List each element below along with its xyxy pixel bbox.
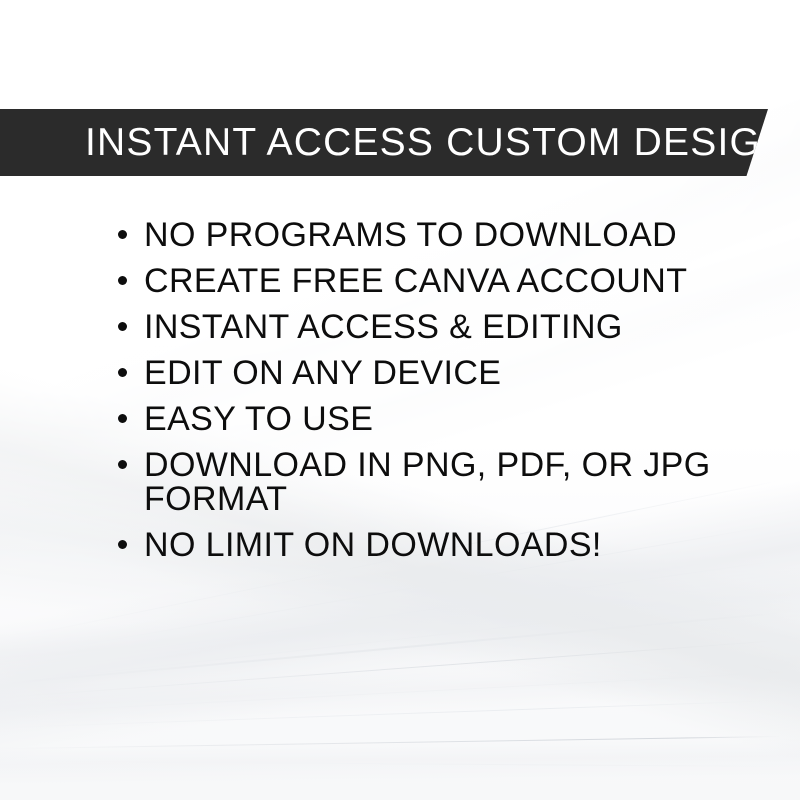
list-item: INSTANT ACCESS & EDITING — [118, 310, 738, 344]
list-item: EASY TO USE — [118, 402, 738, 436]
list-item-label: EASY TO USE — [144, 402, 738, 436]
list-item: DOWNLOAD IN PNG, PDF, OR JPG FORMAT — [118, 448, 738, 516]
page-title: INSTANT ACCESS CUSTOM DESIGNS — [85, 123, 800, 162]
list-item-label: NO LIMIT ON DOWNLOADS! — [144, 528, 738, 562]
list-item: NO PROGRAMS TO DOWNLOAD — [118, 218, 738, 252]
list-item: EDIT ON ANY DEVICE — [118, 356, 738, 390]
header-banner: INSTANT ACCESS CUSTOM DESIGNS — [0, 109, 768, 176]
list-item-label: INSTANT ACCESS & EDITING — [144, 310, 738, 344]
poster-canvas: INSTANT ACCESS CUSTOM DESIGNS NO PROGRAM… — [0, 0, 800, 800]
list-item: CREATE FREE CANVA ACCOUNT — [118, 264, 738, 298]
list-item-label: EDIT ON ANY DEVICE — [144, 356, 738, 390]
list-item: NO LIMIT ON DOWNLOADS! — [118, 528, 738, 562]
list-item-label: CREATE FREE CANVA ACCOUNT — [144, 264, 738, 298]
list-item-label: NO PROGRAMS TO DOWNLOAD — [144, 218, 738, 252]
list-item-label: DOWNLOAD IN PNG, PDF, OR JPG FORMAT — [144, 448, 738, 516]
feature-list: NO PROGRAMS TO DOWNLOAD CREATE FREE CANV… — [118, 218, 738, 562]
